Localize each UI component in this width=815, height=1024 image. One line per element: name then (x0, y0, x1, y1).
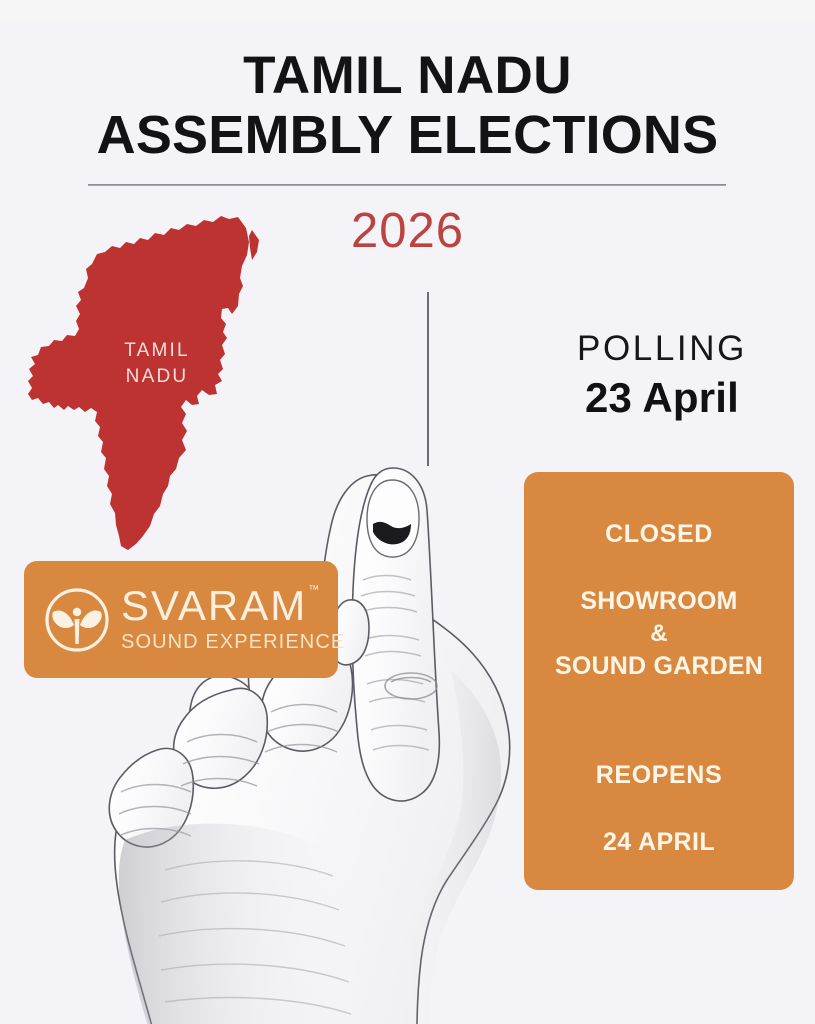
svaram-emblem-icon (43, 586, 111, 654)
notice-area-line3: SOUND GARDEN (524, 650, 794, 683)
svaram-brand-name: SVARAM™ (121, 585, 345, 627)
tamil-nadu-map (16, 214, 284, 554)
notice-affected-areas: SHOWROOM & SOUND GARDEN (524, 585, 794, 683)
page-title: TAMIL NADU ASSEMBLY ELECTIONS (0, 46, 815, 166)
trademark-symbol: ™ (308, 584, 319, 596)
svaram-brand-text: SVARAM (121, 582, 307, 629)
pointer-line-icon (427, 292, 429, 466)
title-line-2: ASSEMBLY ELECTIONS (0, 105, 815, 165)
polling-info: POLLING 23 April (527, 330, 797, 421)
election-notice-poster: TAMIL NADU ASSEMBLY ELECTIONS 2026 TAMIL… (0, 0, 815, 1024)
svaram-wordmark: SVARAM™ SOUND EXPERIENCE (121, 585, 345, 652)
notice-closed-label: CLOSED (605, 520, 713, 549)
svaram-logo-card: SVARAM™ SOUND EXPERIENCE (24, 561, 338, 678)
notice-area-ampersand: & (524, 618, 794, 650)
polling-date: 23 April (527, 375, 797, 421)
title-divider (88, 184, 726, 186)
closure-notice-card: CLOSED SHOWROOM & SOUND GARDEN REOPENS 2… (524, 472, 794, 890)
notice-reopens-date: 24 APRIL (603, 828, 715, 857)
election-year: 2026 (0, 203, 815, 259)
notice-area-line1: SHOWROOM (524, 585, 794, 618)
notice-reopens-label: REOPENS (596, 761, 722, 790)
title-line-1: TAMIL NADU (0, 46, 815, 105)
polling-label: POLLING (527, 330, 797, 369)
svaram-tagline: SOUND EXPERIENCE (121, 632, 345, 652)
